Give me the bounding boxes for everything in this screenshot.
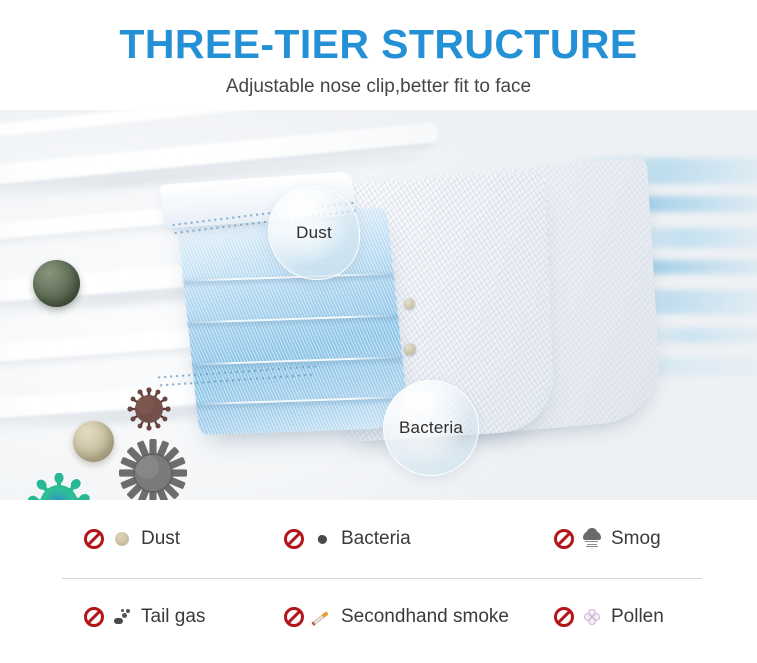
mask-layer-stack: Dust Bacteria <box>140 148 700 478</box>
prohibition-icon <box>84 529 104 549</box>
bubble-glare <box>403 392 437 411</box>
page-subtitle: Adjustable nose clip,better fit to face <box>0 66 757 98</box>
bubble-glare <box>287 198 319 216</box>
smog-icon <box>581 528 603 550</box>
legend-item-bacteria[interactable]: Bacteria <box>284 528 554 550</box>
legend-item-smog[interactable]: Smog <box>554 528 754 550</box>
prohibition-icon <box>554 607 574 627</box>
legend-label: Bacteria <box>341 528 411 550</box>
tan-sphere-particle <box>73 421 114 462</box>
particle-dot <box>404 343 417 356</box>
legend-label: Pollen <box>611 606 664 628</box>
prohibition-icon <box>284 607 304 627</box>
legend-label: Tail gas <box>141 606 205 628</box>
bubble-bacteria-label: Bacteria <box>399 418 463 438</box>
bubble-dust: Dust <box>268 186 360 280</box>
legend-item-tail-gas[interactable]: Tail gas <box>84 606 284 628</box>
bacteria-icon <box>311 528 333 550</box>
product-infographic: THREE-TIER STRUCTURE Adjustable nose cli… <box>0 0 757 663</box>
prohibition-icon <box>554 529 574 549</box>
legend-label: Smog <box>611 528 661 550</box>
bubble-bacteria: Bacteria <box>383 380 479 476</box>
legend-item-pollen[interactable]: Pollen <box>554 606 754 628</box>
legend: Dust Bacteria <box>0 500 757 663</box>
hero-product-image: Dust Bacteria <box>0 110 757 500</box>
legend-label: Secondhand smoke <box>341 606 509 628</box>
legend-item-secondhand-smoke[interactable]: Secondhand smoke <box>284 606 554 628</box>
teal-virus-particle <box>28 473 90 500</box>
prohibition-icon <box>284 529 304 549</box>
legend-item-dust[interactable]: Dust <box>84 528 284 550</box>
olive-sphere-particle <box>33 260 80 307</box>
dust-icon <box>111 528 133 550</box>
legend-row: Dust Bacteria <box>0 500 757 578</box>
bubble-dust-label: Dust <box>296 223 332 243</box>
header: THREE-TIER STRUCTURE Adjustable nose cli… <box>0 0 757 112</box>
legend-row: Tail gas Secondhand smoke <box>0 578 757 656</box>
cigarette-icon <box>311 606 333 628</box>
prohibition-icon <box>84 607 104 627</box>
legend-label: Dust <box>141 528 180 550</box>
particle-dot <box>404 298 415 310</box>
pollen-icon <box>581 606 603 628</box>
tail-gas-icon <box>111 606 133 628</box>
page-title: THREE-TIER STRUCTURE <box>0 0 757 66</box>
